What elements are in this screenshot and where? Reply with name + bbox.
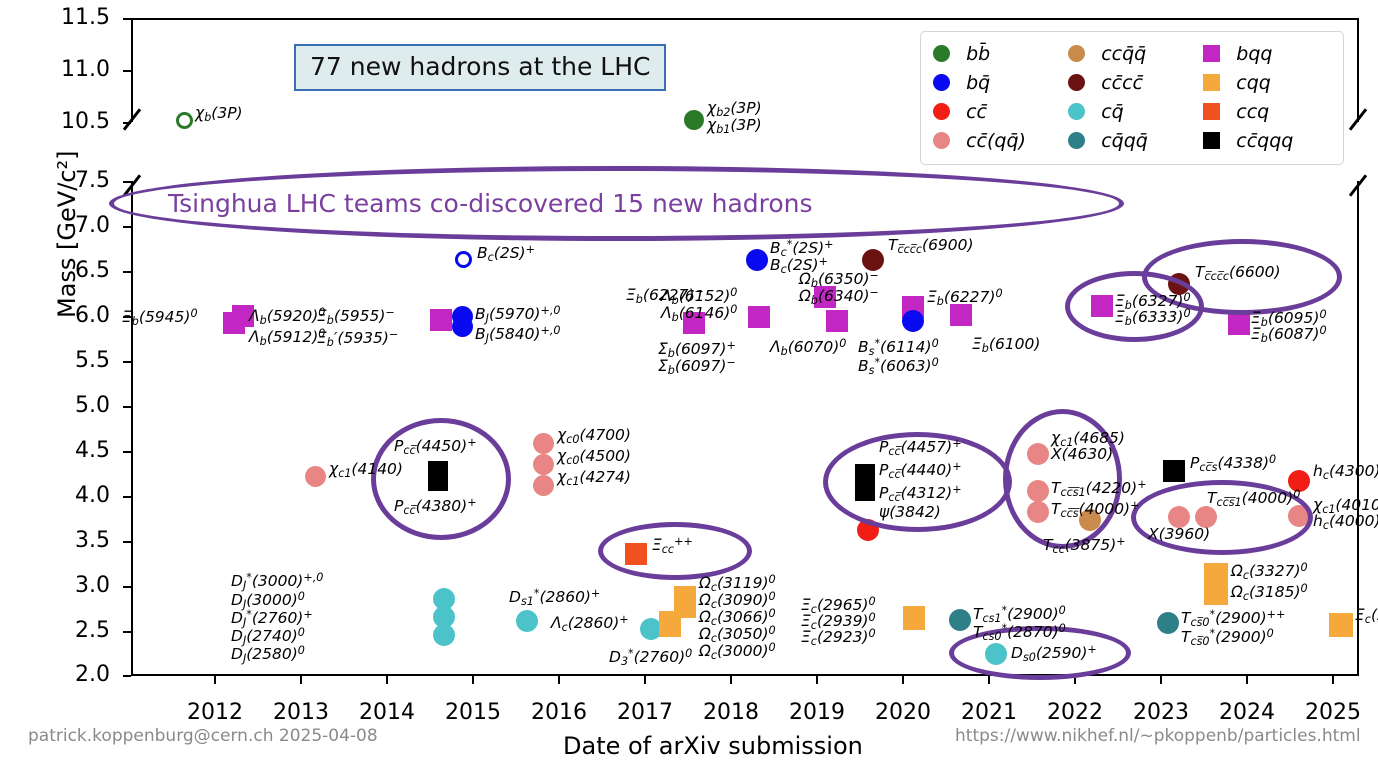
marker-omegac-3050-cluster[interactable] <box>659 611 681 637</box>
marker-bcstar-2s[interactable] <box>746 249 768 271</box>
label-xic-2923: Ξc(2923)0 <box>801 626 876 650</box>
label-lambdac-2860: Λc(2860)+ <box>551 612 629 636</box>
legend-label-ccqq: cc̄(qq̄) <box>966 130 1026 152</box>
marker-chib2-3P[interactable] <box>684 110 704 130</box>
marker-chic0-4700[interactable] <box>533 433 554 454</box>
legend-swatch-ccqbqb <box>1068 45 1085 62</box>
marker-xic-2965-cluster[interactable] <box>903 606 925 630</box>
axis-left-upper <box>131 18 133 122</box>
label-pccs-4338: Pcc̅s(4338)0 <box>1190 452 1276 476</box>
legend-item-ccqq[interactable]: cc̄(qq̄) <box>933 127 1063 156</box>
legend-label-cccc: cc̄cc̄ <box>1101 72 1143 94</box>
legend-swatch-bqq <box>1203 45 1220 62</box>
legend-label-bq: bq̄ <box>966 72 990 94</box>
marker-dj-2740[interactable] <box>433 624 455 646</box>
label-omegac-3185: Ωc(3185)0 <box>1231 581 1308 605</box>
marker-chic0-4500[interactable] <box>533 454 554 475</box>
label-xib-5955: Ξb(5955)− <box>317 305 395 329</box>
label-chic0-4500: χc0(4500) <box>557 448 631 469</box>
label-bj-5840: BJ(5840)+,0 <box>475 323 560 347</box>
legend-label-cqqq: cq̄qq̄ <box>1101 130 1148 152</box>
footer-left: patrick.koppenburg@cern.ch 2025-04-08 <box>28 726 378 746</box>
marker-bj-5840[interactable] <box>452 316 473 337</box>
legend-label-cc: cc̄ <box>966 101 987 123</box>
axis-right-upper <box>1357 18 1359 122</box>
legend-swatch-cccc <box>1068 74 1085 91</box>
legend-swatch-cc <box>933 103 950 120</box>
axis-bottom-border <box>131 674 1359 676</box>
marker-omegac-3327-3185[interactable] <box>1204 563 1228 605</box>
legend-column-1: bb̄ bq̄ cc̄ cc̄(qq̄) <box>933 40 1063 156</box>
label-pcc-4380: Pcc̅(4380)+ <box>394 495 477 519</box>
legend-label-cqq: cqq <box>1236 72 1271 94</box>
marker-bsstar-6114[interactable] <box>902 310 924 332</box>
legend-column-3: bqq cqq ccq cc̄qqq <box>1203 40 1331 156</box>
label-lambdab-5912: Λb(5912)0 <box>249 326 325 350</box>
legend-column-2: ccq̄q̄ cc̄cc̄ cq̄ cq̄qq̄ <box>1068 40 1198 156</box>
marker-tcs1-2900[interactable] <box>949 609 971 631</box>
marker-lambdab-5920[interactable] <box>223 312 245 334</box>
label-x-3960: X(3960) <box>1148 526 1210 542</box>
marker-lambdab-6152[interactable] <box>748 306 770 328</box>
axis-right-lower <box>1357 181 1359 676</box>
legend-label-ccqqq: cc̄qqq <box>1236 130 1293 152</box>
legend-item-bqq[interactable]: bqq <box>1203 40 1331 69</box>
legend-swatch-cq <box>1068 103 1085 120</box>
marker-tcs0-2900[interactable] <box>1157 612 1179 634</box>
label-xicc-plusplus: Ξcc++ <box>652 534 693 558</box>
label-pcc-4440: Pcc̅(4440)+ <box>879 459 962 483</box>
label-xib-6333: Ξb(6333)0 <box>1115 306 1191 330</box>
label-bsstar-6063: Bs*(6063)0 <box>858 355 939 379</box>
marker-xic-2923-plus[interactable] <box>1329 613 1353 637</box>
label-tcccc-6900: Tc̅cc̅c(6900) <box>888 237 974 258</box>
legend-item-cqqq[interactable]: cq̄qq̄ <box>1068 127 1198 156</box>
legend-item-bq[interactable]: bq̄ <box>933 69 1063 98</box>
label-pcc-4450: Pcc̅(4450)+ <box>394 435 477 459</box>
label-chib1-3P: χb1(3P) <box>707 117 762 138</box>
legend-swatch-bb <box>933 45 950 62</box>
legend-label-cq: cq̄ <box>1101 101 1124 123</box>
label-dj-2580: DJ(2580)0 <box>231 643 305 667</box>
marker-xib-5955[interactable] <box>430 309 452 331</box>
label-xib-6227-zero: Ξb(6227)0 <box>927 286 1003 310</box>
label-sigmab-6097-minus: Σb(6097)− <box>658 355 736 379</box>
label-chic1-4274: χc1(4274) <box>557 469 631 490</box>
legend-item-ccqqq[interactable]: cc̄qqq <box>1203 127 1331 156</box>
label-x-4630: X(4630) <box>1051 446 1113 462</box>
chart-title-box: 77 new hadrons at the LHC <box>294 44 666 91</box>
marker-chic1-4274[interactable] <box>533 475 554 496</box>
label-xib-6100: Ξb(6100) <box>972 336 1040 357</box>
label-tcc-3875: Tcc(3875)+ <box>1043 534 1126 558</box>
label-pcc-4457: Pcc̅(4457)+ <box>879 436 962 460</box>
marker-pccs-4338[interactable] <box>1163 460 1185 482</box>
marker-chic1-4140[interactable] <box>305 466 326 487</box>
label-hc-4000: hc(4000) <box>1313 513 1378 534</box>
label-xibprime-5935: Ξb′(5935)− <box>317 327 398 351</box>
label-xib-5945: Ξb(5945)0 <box>122 306 198 330</box>
legend-label-ccq: ccq <box>1236 101 1269 123</box>
legend-swatch-cqq <box>1203 74 1220 91</box>
legend-item-bb[interactable]: bb̄ <box>933 40 1063 69</box>
legend-item-ccq[interactable]: ccq <box>1203 98 1331 127</box>
label-chib-3P: χb(3P) <box>195 105 243 126</box>
label-xib-6227-minus: Ξb(6227)− <box>626 284 704 308</box>
legend-item-cq[interactable]: cq̄ <box>1068 98 1198 127</box>
legend-swatch-bq <box>933 74 950 91</box>
label-omegac-3000: Ωc(3000)0 <box>699 640 776 664</box>
marker-bc2s-open[interactable] <box>455 251 472 268</box>
legend-item-cc[interactable]: cc̄ <box>933 98 1063 127</box>
label-d3-2760: D3*(2760)0 <box>609 646 692 670</box>
label-bc2s-open: Bc(2S)+ <box>477 242 535 266</box>
footer-right: https://www.nikhef.nl/~pkoppenb/particle… <box>955 726 1361 746</box>
axis-left-lower <box>131 181 133 676</box>
legend-swatch-ccq <box>1203 103 1220 120</box>
label-tccs-4000: Tcc̅s̅(4000)+ <box>1051 498 1139 522</box>
x-axis-label: Date of arXiv submission <box>563 732 863 760</box>
label-psi-3842: ψ(3842) <box>879 504 941 520</box>
marker-xib-6095[interactable] <box>1228 313 1250 335</box>
legend-label-ccqbqb: ccq̄q̄ <box>1101 43 1146 65</box>
label-chic0-4700: χc0(4700) <box>557 427 631 448</box>
axis-top-border <box>131 18 1359 20</box>
legend: bb̄ bq̄ cc̄ cc̄(qq̄) ccq̄q̄ cc̄cc̄ cq̄ <box>920 31 1344 165</box>
tsinghua-annotation: Tsinghua LHC teams co-discovered 15 new … <box>168 189 813 218</box>
marker-ds1-2860[interactable] <box>516 610 538 632</box>
legend-item-ccqbqb[interactable]: ccq̄q̄ <box>1068 40 1198 69</box>
label-xic-2923-plus: Ξc(2923)+ <box>1355 604 1378 628</box>
marker-lambdab-6070[interactable] <box>826 310 848 332</box>
legend-label-bqq: bqq <box>1236 43 1272 65</box>
label-tccs1-4000-zero: Tcc̅s̅1(4000)0 <box>1207 487 1300 511</box>
label-xib-6087: Ξb(6087)0 <box>1251 323 1327 347</box>
label-lambdab-6070: Λb(6070)0 <box>770 336 846 360</box>
label-ds1-2860: Ds1*(2860)+ <box>509 586 600 610</box>
label-tcccc-6600: Tc̅cc̅c(6600) <box>1195 264 1281 285</box>
label-hc-4300: hc(4300) <box>1313 463 1378 484</box>
legend-swatch-cqqq <box>1068 132 1085 149</box>
legend-swatch-ccqqq <box>1203 132 1220 149</box>
marker-chib-3P[interactable] <box>176 112 193 129</box>
label-omegab-6340: Ωb(6340)− <box>799 285 879 309</box>
label-ds0-2590: Ds0(2590)+ <box>1011 642 1097 666</box>
label-chic1-4140: χc1(4140) <box>329 461 403 482</box>
legend-item-cqq[interactable]: cqq <box>1203 69 1331 98</box>
legend-label-bb: bb̄ <box>966 43 990 65</box>
y-axis-label: Mass [GeV/c²] <box>53 151 81 318</box>
legend-item-cccc[interactable]: cc̄cc̄ <box>1068 69 1198 98</box>
legend-swatch-ccqq <box>933 132 950 149</box>
label-tcs0-2900-zero: Tcs̅0*(2900)0 <box>1181 626 1274 650</box>
